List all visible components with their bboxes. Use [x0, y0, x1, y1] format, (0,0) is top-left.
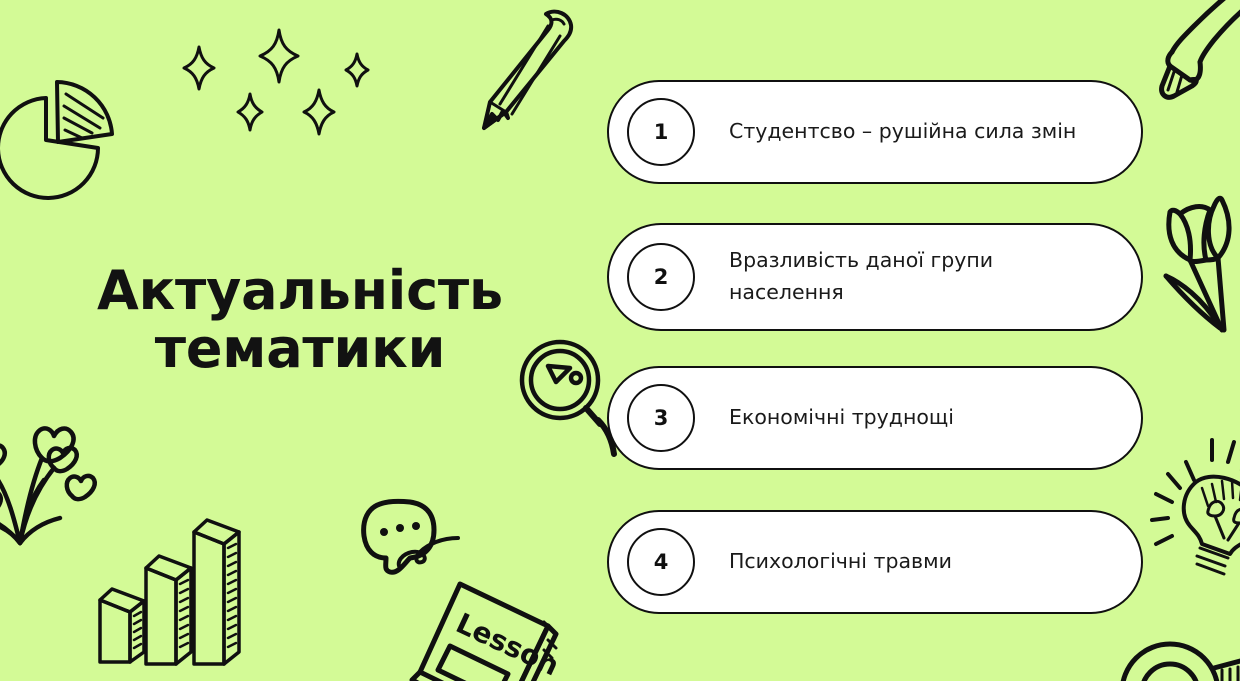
- point-label: Економічні труднощі: [729, 402, 980, 434]
- sparkle-star-icon: [236, 92, 264, 132]
- squiggle-icon: [392, 536, 462, 576]
- point-number-badge: 1: [627, 98, 695, 166]
- point-label: Вразливість даної групи населення: [729, 245, 1019, 309]
- sparkle-star-icon: [302, 88, 336, 136]
- pencil-icon: [470, 8, 580, 138]
- bar-chart-icon: [96, 512, 256, 672]
- sparkle-star-icon: [344, 52, 370, 88]
- tulip-flower-icon: [1162, 190, 1240, 340]
- pie-chart-icon: [2, 78, 122, 203]
- lesson-book-label: Lesson: [451, 606, 564, 681]
- glue-tube-icon: [1146, 0, 1240, 102]
- point-number-badge: 2: [627, 243, 695, 311]
- sparkle-star-icon: [258, 28, 300, 84]
- title-block: Актуальність тематики: [40, 262, 560, 379]
- point-number-badge: 4: [627, 528, 695, 596]
- lightbulb-icon: [1152, 428, 1240, 578]
- point-label: Психологічні травми: [729, 546, 978, 578]
- protractor-ruler-icon: [1118, 612, 1240, 681]
- points-list: 1 Студентсво – рушійна сила змін 2 Вразл…: [607, 80, 1143, 614]
- sparkle-star-icon: [182, 45, 216, 91]
- list-item[interactable]: 3 Економічні труднощі: [607, 366, 1143, 470]
- list-item[interactable]: 4 Психологічні травми: [607, 510, 1143, 614]
- list-item[interactable]: 1 Студентсво – рушійна сила змін: [607, 80, 1143, 184]
- lesson-book-icon: Lesson: [398, 548, 568, 681]
- slide-canvas: Lesson Актуальність тематики 1 Студентсв…: [0, 0, 1240, 681]
- speech-bubble-icon: [360, 498, 450, 578]
- list-item[interactable]: 2 Вразливість даної групи населення: [607, 223, 1143, 331]
- heart-leaf-plant-icon: [0, 368, 108, 578]
- point-label: Студентсво – рушійна сила змін: [729, 116, 1102, 148]
- page-title: Актуальність тематики: [40, 262, 560, 379]
- point-number-badge: 3: [627, 384, 695, 452]
